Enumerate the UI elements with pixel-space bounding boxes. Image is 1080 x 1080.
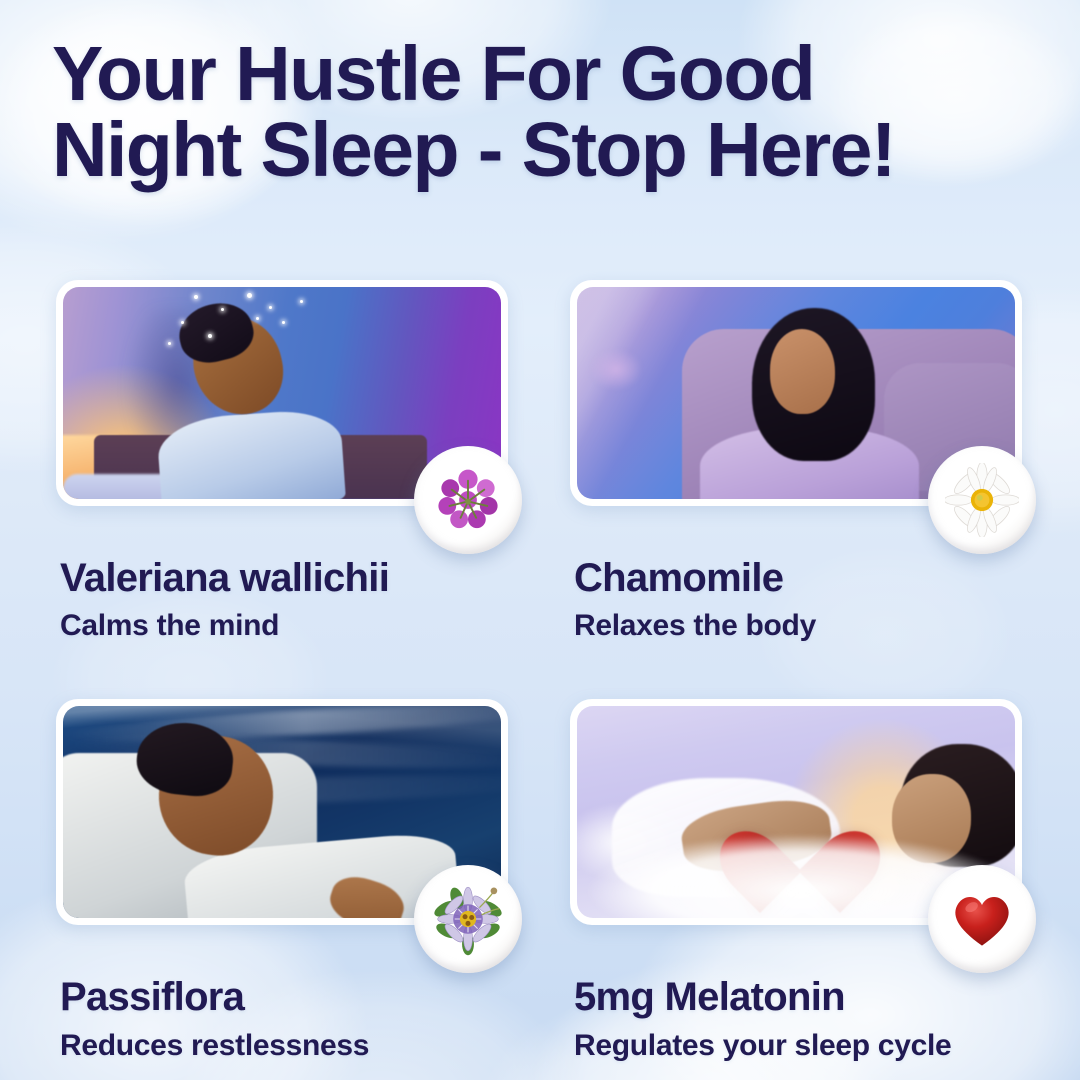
- photo-frame: [570, 280, 1022, 506]
- ingredient-description: Relaxes the body: [574, 610, 1022, 642]
- chamomile-daisy-icon: [945, 463, 1019, 537]
- passionflower-icon: [431, 882, 505, 956]
- chamomile-daisy-badge: [928, 446, 1036, 554]
- ingredient-card-chamomile: Chamomile Relaxes the body: [570, 280, 1022, 642]
- card-caption: Valeriana wallichii Calms the mind: [56, 557, 508, 642]
- photo-frame: [56, 280, 508, 506]
- poster-canvas: Your Hustle For Good Night Sleep - Stop …: [0, 0, 1080, 1080]
- photo-frame: [56, 699, 508, 925]
- ingredient-name: Passiflora: [60, 976, 508, 1018]
- ingredient-card-grid: Valeriana wallichii Calms the mind: [56, 280, 1024, 1061]
- ingredient-description: Regulates your sleep cycle: [574, 1030, 1022, 1062]
- ingredient-name: Valeriana wallichii: [60, 557, 508, 599]
- card-caption: 5mg Melatonin Regulates your sleep cycle: [570, 976, 1022, 1061]
- photo-frame: [570, 699, 1022, 925]
- ingredient-description: Calms the mind: [60, 610, 508, 642]
- ingredient-description: Reduces restlessness: [60, 1030, 508, 1062]
- ingredient-card-valeriana: Valeriana wallichii Calms the mind: [56, 280, 508, 642]
- ingredient-card-passiflora: Passiflora Reduces restlessness: [56, 699, 508, 1061]
- ingredient-name: 5mg Melatonin: [574, 976, 1022, 1018]
- ingredient-name: Chamomile: [574, 557, 1022, 599]
- card-caption: Passiflora Reduces restlessness: [56, 976, 508, 1061]
- passionflower-badge: [414, 865, 522, 973]
- valerian-flower-badge: [414, 446, 522, 554]
- valerian-flower-icon: [431, 463, 505, 537]
- card-caption: Chamomile Relaxes the body: [570, 557, 1022, 642]
- red-heart-icon: [945, 882, 1019, 956]
- red-heart-badge: [928, 865, 1036, 973]
- page-title: Your Hustle For Good Night Sleep - Stop …: [52, 36, 1032, 188]
- ingredient-card-melatonin: 5mg Melatonin Regulates your sleep cycle: [570, 699, 1022, 1061]
